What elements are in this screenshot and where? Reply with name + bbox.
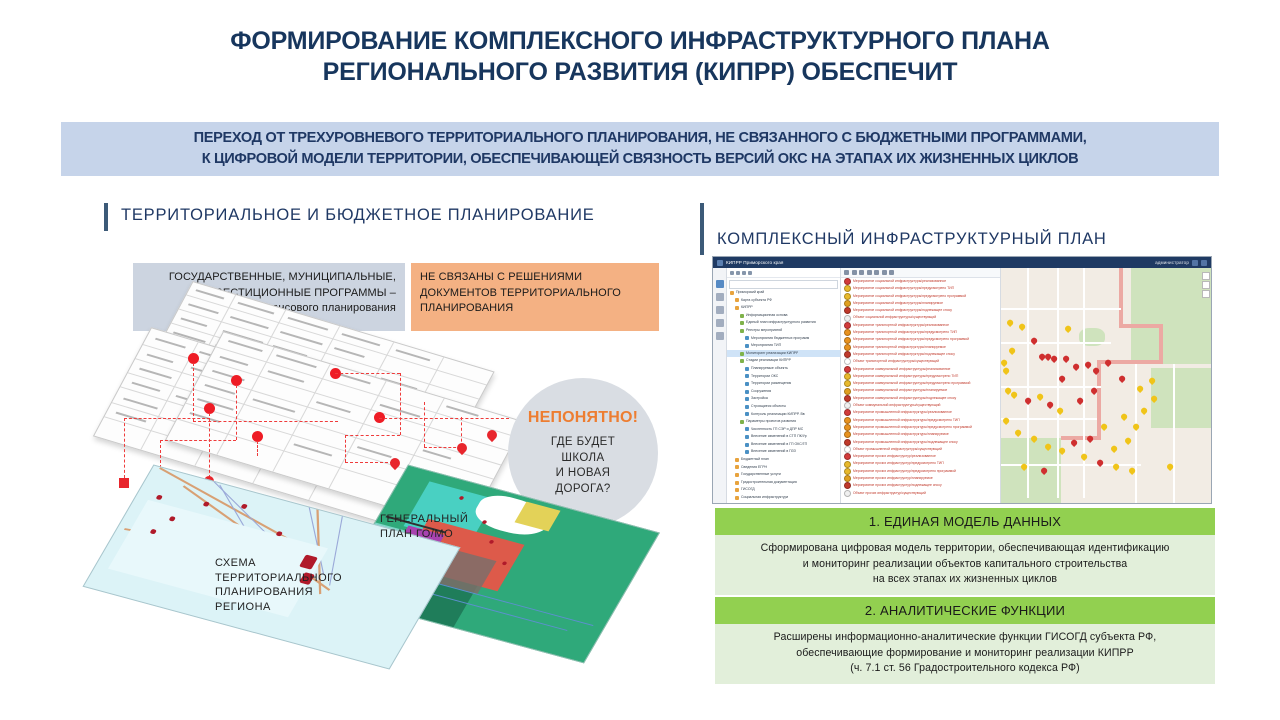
layer-icon: [745, 443, 749, 447]
connector-line: [236, 385, 237, 440]
tree-node[interactable]: Приморский край: [727, 289, 840, 297]
legend-row-label: Мероприятие прочих инфраструктур/предусм…: [853, 460, 944, 467]
user-menu-icon[interactable]: [1201, 260, 1207, 266]
layer-icon: [740, 314, 744, 318]
app-logo-icon: [717, 260, 723, 266]
legend-symbol-icon: [844, 446, 851, 453]
legend-row-label: Мероприятие транспортной инфраструктуры/…: [853, 336, 969, 343]
tree-node-label: Социальная инфраструктура: [741, 494, 788, 502]
map-highway: [1119, 268, 1123, 328]
connector-line: [193, 421, 338, 422]
folder-icon: [735, 458, 739, 462]
zoom-to-icon[interactable]: [844, 270, 849, 275]
map-zoom-controls[interactable]: [1202, 272, 1208, 299]
print-list-icon[interactable]: [889, 270, 894, 275]
tree-node-label: Территории размещения: [751, 380, 791, 388]
layer-icon: [745, 435, 749, 439]
tree-node[interactable]: Социальная инфраструктура: [727, 494, 840, 502]
legend-symbol-icon: [844, 366, 851, 373]
tree-node[interactable]: КИПРР: [727, 304, 840, 312]
legend-row-label: Мероприятие прочих инфраструктур/подлежа…: [853, 482, 942, 489]
app-title-right: администратор: [1155, 260, 1207, 266]
gray-box-line-1: ГОСУДАРСТВЕННЫЕ, МУНИЦИПАЛЬНЫЕ,: [142, 270, 396, 286]
tree-node-label: Контроль реализации КИПРР. Вв: [751, 411, 805, 419]
zoom-in-button[interactable]: [1202, 272, 1210, 280]
legend-row-label: Объект социальной инфраструктуры/существ…: [853, 314, 936, 321]
tree-node[interactable]: Застройка: [727, 395, 840, 403]
tree-node-label: Территории ОКС: [751, 373, 778, 381]
connector-line: [345, 435, 400, 436]
legend-symbol-icon: [844, 439, 851, 446]
legend-row-label: Мероприятие транспортной инфраструктуры/…: [853, 344, 946, 351]
pan-icon[interactable]: [859, 270, 864, 275]
tree-node-label: Параметры проектов развития: [746, 418, 796, 426]
legend-symbol-icon: [844, 461, 851, 468]
endpoint-marker: [119, 478, 129, 488]
layer-icon: [745, 374, 749, 378]
expand-all-icon[interactable]: [730, 271, 734, 275]
legend-symbol-icon: [844, 293, 851, 300]
tree-node[interactable]: Карта субъекта РФ: [727, 297, 840, 305]
block-2-line-3: (ч. 7.1 ст. 56 Градостроительного кодекс…: [723, 661, 1207, 677]
map-street: [1057, 268, 1059, 498]
block-1-line-1: Сформирована цифровая модель территории,…: [723, 541, 1207, 557]
connector-line: [345, 435, 346, 462]
connector-line: [345, 462, 393, 463]
tree-node[interactable]: Планируемые объекты: [727, 365, 840, 373]
connector-line: [379, 418, 509, 419]
legend-row[interactable]: Объект транспортной инфраструктуры/сущес…: [841, 358, 1000, 365]
map-street: [1027, 268, 1029, 498]
legend-row[interactable]: Мероприятие транспортной инфраструктуры/…: [841, 336, 1000, 343]
measure-icon[interactable]: [716, 319, 724, 327]
legend-symbol-icon: [844, 402, 851, 409]
layer-icon: [745, 382, 749, 386]
tree-node[interactable]: Информационная основа: [727, 312, 840, 320]
legend-row[interactable]: Мероприятие промышленной инфраструктуры/…: [841, 409, 1000, 416]
legend-row[interactable]: Мероприятие прочих инфраструктур/предусм…: [841, 460, 1000, 467]
schema-label-line-2: ТЕРРИТОРИАЛЬНОГО: [215, 571, 342, 586]
legend-row-label: Мероприятие транспортной инфраструктуры/…: [853, 329, 957, 336]
legend-symbol-icon: [844, 468, 851, 475]
connector-line: [335, 373, 400, 374]
tree-node[interactable]: Контроль реализации КИПРР. Вв: [727, 411, 840, 419]
callout-q-line-2: ШКОЛА: [551, 451, 615, 467]
legend-symbol-icon: [844, 395, 851, 402]
legend-row[interactable]: Мероприятие социальной инфраструктуры/пл…: [841, 300, 1000, 307]
layer-icon: [745, 405, 749, 409]
export-icon[interactable]: [874, 270, 879, 275]
layer-icon: [745, 390, 749, 394]
connector-line: [193, 363, 194, 421]
map-green-area: [1131, 268, 1211, 364]
help-icon[interactable]: [1192, 260, 1198, 266]
tree-node[interactable]: Внесение изменений в ГП ОКС/ГП: [727, 441, 840, 449]
legend-symbol-icon: [844, 431, 851, 438]
tree-node-label: КИПРР: [741, 304, 753, 312]
app-window-title: КИПРР Приморского края: [726, 260, 784, 265]
app-title-left: КИПРР Приморского края: [717, 260, 784, 266]
map-highway: [1159, 324, 1163, 360]
layer-icon: [740, 329, 744, 333]
layer-icon: [745, 450, 749, 454]
connector-line: [160, 440, 236, 441]
legend-row[interactable]: Мероприятие прочих инфраструктур/подлежа…: [841, 482, 1000, 489]
tree-node[interactable]: Стадии реализации КИПРР: [727, 357, 840, 365]
banner-line-1: ПЕРЕХОД ОТ ТРЕХУРОВНЕВОГО ТЕРРИТОРИАЛЬНО…: [65, 128, 1215, 149]
block-2-body: Расширены информационно-аналитические фу…: [715, 624, 1215, 684]
tree-node-label: Внесение изменений в ПЗЗ: [751, 448, 796, 456]
legend-row[interactable]: Мероприятие транспортной инфраструктуры/…: [841, 351, 1000, 358]
tree-node[interactable]: Параметры проектов развития: [727, 418, 840, 426]
orange-box-line-1: НЕ СВЯЗАНЫ С РЕШЕНИЯМИ: [420, 270, 650, 286]
legend-row-label: Мероприятие коммунальной инфраструктуры/…: [853, 373, 958, 380]
search-icon[interactable]: [716, 306, 724, 314]
tree-node-label: Сведения ЕГРН: [741, 464, 767, 472]
legend-symbol-icon: [844, 373, 851, 380]
legend-row-label: Мероприятие коммунальной инфраструктуры/…: [853, 366, 950, 373]
connector-line: [424, 402, 425, 447]
result-block-analytics: 2. АНАЛИТИЧЕСКИЕ ФУНКЦИИ Расширены инфор…: [715, 597, 1215, 684]
connector-line: [257, 441, 258, 456]
callout-headline: НЕПОНЯТНО!: [528, 409, 638, 427]
tree-node[interactable]: Строящиеся объекты: [727, 403, 840, 411]
tree-node[interactable]: Государственные услуги: [727, 471, 840, 479]
legend-row-label: Мероприятие промышленной инфраструктуры/…: [853, 417, 960, 424]
tree-node-label: Внесение изменений в ГП ОКС/ГП: [751, 441, 807, 449]
legend-symbol-icon: [844, 300, 851, 307]
title-line-1: ФОРМИРОВАНИЕ КОМПЛЕКСНОГО ИНФРАСТРУКТУРН…: [230, 27, 1050, 55]
tree-node[interactable]: Транспортная инфраструктура: [727, 502, 840, 504]
tree-node-label: Строящиеся объекты: [751, 403, 786, 411]
legend-row[interactable]: Мероприятие прочих инфраструктур/планиру…: [841, 475, 1000, 482]
tree-node-label: Бюджетный план: [741, 456, 769, 464]
legend-row[interactable]: Мероприятие социальной инфраструктуры/пр…: [841, 293, 1000, 300]
folder-icon: [735, 496, 739, 500]
tree-node[interactable]: Внесение изменений в ПЗЗ: [727, 448, 840, 456]
territorial-scheme-label: СХЕМА ТЕРРИТОРИАЛЬНОГО ПЛАНИРОВАНИЯ РЕГИ…: [215, 556, 342, 614]
legend-row[interactable]: Мероприятие транспортной инфраструктуры/…: [841, 322, 1000, 329]
left-header-text: ТЕРРИТОРИАЛЬНОЕ И БЮДЖЕТНОЕ ПЛАНИРОВАНИЕ: [121, 203, 595, 231]
refresh-icon[interactable]: [742, 271, 746, 275]
legend-symbol-icon: [844, 315, 851, 322]
legend-row-label: Мероприятие коммунальной инфраструктуры/…: [853, 387, 947, 394]
legend-row[interactable]: Мероприятие прочих инфраструктур/предусм…: [841, 468, 1000, 475]
tree-node[interactable]: Территории размещения: [727, 380, 840, 388]
legend-symbol-icon: [844, 388, 851, 395]
layers-icon[interactable]: [716, 280, 724, 288]
legend-symbol-icon: [844, 344, 851, 351]
legend-row[interactable]: Объект коммунальной инфраструктуры/сущес…: [841, 402, 1000, 409]
legend-row[interactable]: Мероприятие промышленной инфраструктуры/…: [841, 431, 1000, 438]
legend-row[interactable]: Мероприятие коммунальной инфраструктуры/…: [841, 387, 1000, 394]
legend-row-label: Мероприятие социальной инфраструктуры/ре…: [853, 278, 946, 285]
map-green-area: [1001, 438, 1061, 504]
legend-row[interactable]: Мероприятие промышленной инфраструктуры/…: [841, 424, 1000, 431]
tree-node-label: Приморский край: [736, 289, 764, 297]
app-layer-tree[interactable]: Приморский крайКарта субъекта РФКИПРРИнф…: [727, 268, 841, 504]
identify-icon[interactable]: [867, 270, 872, 275]
legend-row-label: Мероприятие транспортной инфраструктуры/…: [853, 322, 949, 329]
layer-icon: [745, 412, 749, 416]
schema-label-line-3: ПЛАНИРОВАНИЯ: [215, 585, 342, 600]
legend-row[interactable]: Мероприятие коммунальной инфраструктуры/…: [841, 380, 1000, 387]
layer-icon: [740, 352, 744, 356]
legend-symbol-icon: [844, 482, 851, 489]
schema-label-line-4: РЕГИОНА: [215, 600, 342, 615]
legend-row[interactable]: Мероприятие социальной инфраструктуры/пр…: [841, 285, 1000, 292]
folder-icon: [735, 503, 739, 504]
block-2-line-1: Расширены информационно-аналитические фу…: [723, 630, 1207, 646]
layer-icon: [740, 321, 744, 325]
app-left-rail[interactable]: [713, 268, 727, 504]
schema-label-line-1: СХЕМА: [215, 556, 342, 571]
tree-node-label: Мероприятия бюджетных программ: [751, 335, 809, 343]
tree-node[interactable]: Сведения ЕГРН: [727, 464, 840, 472]
legend-row-label: Мероприятие промышленной инфраструктуры/…: [853, 409, 952, 416]
tree-node-label: Сооружения: [751, 388, 771, 396]
legend-symbol-icon: [844, 380, 851, 387]
block-1-body: Сформирована цифровая модель территории,…: [715, 535, 1215, 595]
general-plan-label: ГЕНЕРАЛЬНЫЙ ПЛАН ГО/МО: [380, 512, 468, 541]
tree-node-label: Мониторинг реализации КИПРР: [746, 350, 798, 358]
block-1-heading: 1. ЕДИНАЯ МОДЕЛЬ ДАННЫХ: [715, 508, 1215, 535]
layer-icon: [740, 359, 744, 363]
tree-node[interactable]: Территории ОКС: [727, 373, 840, 381]
legend-row-label: Объект прочих инфраструктур/существующий: [853, 490, 926, 497]
banner-line-2: К ЦИФРОВОЙ МОДЕЛИ ТЕРРИТОРИИ, ОБЕСПЕЧИВА…: [65, 149, 1215, 170]
legend-symbol-icon: [844, 285, 851, 292]
tree-node[interactable]: Численность ГП СЭР и ДПР МО: [727, 426, 840, 434]
app-map-canvas[interactable]: [1001, 268, 1211, 504]
legend-row-label: Объект промышленной инфраструктуры/сущес…: [853, 446, 942, 453]
app-body: Приморский крайКарта субъекта РФКИПРРИнф…: [713, 268, 1211, 504]
legend-symbol-icon: [844, 409, 851, 416]
legend-row[interactable]: Мероприятие коммунальной инфраструктуры/…: [841, 366, 1000, 373]
folder-icon: [735, 465, 739, 469]
legend-row-label: Мероприятие промышленной инфраструктуры/…: [853, 424, 972, 431]
layer-icon: [745, 344, 749, 348]
tree-node-label: Государственные услуги: [741, 471, 781, 479]
map-highway: [1119, 324, 1163, 328]
subtitle-banner-text: ПЕРЕХОД ОТ ТРЕХУРОВНЕВОГО ТЕРРИТОРИАЛЬНО…: [65, 128, 1215, 170]
legend-symbol-icon: [844, 337, 851, 344]
genplan-label-line-1: ГЕНЕРАЛЬНЫЙ: [380, 512, 468, 527]
map-green-area: [1151, 368, 1211, 428]
planning-maps-illustration: СХЕМА ТЕРРИТОРИАЛЬНОГО ПЛАНИРОВАНИЯ РЕГИ…: [118, 488, 698, 673]
tree-node-label: ГИСОГД: [741, 486, 755, 494]
legend-symbol-icon: [844, 351, 851, 358]
tree-node[interactable]: ГИСОГД: [727, 486, 840, 494]
legend-row-label: Мероприятие коммунальной инфраструктуры/…: [853, 380, 970, 387]
tree-search-input[interactable]: [729, 280, 838, 289]
legend-row[interactable]: Мероприятие транспортной инфраструктуры/…: [841, 344, 1000, 351]
callout-q-line-1: ГДЕ БУДЕТ: [551, 435, 615, 451]
layer-icon: [745, 427, 749, 431]
genplan-label-line-2: ПЛАН ГО/МО: [380, 527, 468, 542]
tree-node[interactable]: Единый план инфраструктурного развития: [727, 319, 840, 327]
connector-line: [424, 447, 461, 448]
tree-node-label: Информационная основа: [746, 312, 788, 320]
app-legend-list[interactable]: Мероприятие социальной инфраструктуры/ре…: [841, 268, 1001, 504]
orange-box-line-3: ПЛАНИРОВАНИЯ: [420, 301, 650, 317]
legend-row[interactable]: Мероприятие транспортной инфраструктуры/…: [841, 329, 1000, 336]
callout-q-line-3: И НОВАЯ: [551, 466, 615, 482]
tree-node[interactable]: Градостроительная документация: [727, 479, 840, 487]
zoom-out-button[interactable]: [1202, 281, 1210, 289]
layer-icon: [745, 397, 749, 401]
legend-row-label: Мероприятие промышленной инфраструктуры/…: [853, 439, 958, 446]
tree-node-label: Застройка: [751, 395, 768, 403]
legend-row-label: Мероприятие социальной инфраструктуры/по…: [853, 307, 952, 314]
legend-row[interactable]: Мероприятие социальной инфраструктуры/по…: [841, 307, 1000, 314]
gray-box-line-2: ИНВЕСТИЦИОННЫЕ ПРОГРАММЫ –: [142, 286, 396, 302]
legend-row-label: Мероприятие социальной инфраструктуры/пл…: [853, 300, 943, 307]
tree-node-label: Реестры мероприятий: [746, 327, 782, 335]
map-street: [1001, 342, 1111, 344]
tree-node-label: Планируемые объекты: [751, 365, 788, 373]
tree-node[interactable]: Внесение изменений в СТП ПК/Ур: [727, 433, 840, 441]
tree-node-label: Стадии реализации КИПРР: [746, 357, 791, 365]
folder-icon: [735, 306, 739, 310]
connector-line: [400, 373, 401, 435]
map-layers-button[interactable]: [1202, 290, 1210, 298]
legend-row-label: Мероприятие прочих инфраструктур/планиру…: [853, 475, 933, 482]
legend-symbol-icon: [844, 475, 851, 482]
list-toolbar[interactable]: [841, 268, 1000, 278]
legend-row-label: Мероприятие коммунальной инфраструктуры/…: [853, 395, 956, 402]
legend-symbol-icon: [844, 424, 851, 431]
map-street: [1001, 386, 1101, 388]
right-header-text: КОМПЛЕКСНЫЙ ИНФРАСТРУКТУРНЫЙ ПЛАН РЕГИОН…: [717, 203, 1193, 255]
print-icon[interactable]: [716, 293, 724, 301]
tree-node-label: Транспортная инфраструктура: [741, 502, 791, 504]
legend-row-label: Мероприятие прочих инфраструктур/предусм…: [853, 468, 956, 475]
legend-row[interactable]: Мероприятие социальной инфраструктуры/ре…: [841, 278, 1000, 285]
gis-application-screenshot[interactable]: КИПРР Приморского края администратор: [712, 256, 1212, 504]
tree-node-label: Мероприятия ТИП: [751, 342, 781, 350]
block-1-line-2: и мониторинг реализации объектов капитал…: [723, 557, 1207, 573]
folder-icon: [735, 473, 739, 477]
connector-line: [124, 418, 210, 419]
tree-node-list[interactable]: Приморский крайКарта субъекта РФКИПРРИнф…: [727, 289, 840, 504]
select-icon[interactable]: [852, 270, 857, 275]
settings-icon[interactable]: [882, 270, 887, 275]
legend-symbol-icon: [844, 490, 851, 497]
tree-node[interactable]: Реестры мероприятий: [727, 327, 840, 335]
tree-node-label: Карта субъекта РФ: [741, 297, 772, 305]
legend-row[interactable]: Объект промышленной инфраструктуры/сущес…: [841, 446, 1000, 453]
connector-line: [209, 413, 210, 478]
subtitle-banner: ПЕРЕХОД ОТ ТРЕХУРОВНЕВОГО ТЕРРИТОРИАЛЬНО…: [61, 122, 1219, 176]
legend-row-label: Мероприятие промышленной инфраструктуры/…: [853, 431, 949, 438]
legend-row-list[interactable]: Мероприятие социальной инфраструктуры/ре…: [841, 278, 1000, 497]
table-icon[interactable]: [716, 332, 724, 340]
filter-icon[interactable]: [748, 271, 752, 275]
folder-icon: [735, 298, 739, 302]
tree-toolbar[interactable]: [727, 268, 840, 278]
title-line-2: РЕГИОНАЛЬНОГО РАЗВИТИЯ (КИПРР) ОБЕСПЕЧИТ: [0, 57, 1280, 88]
map-street: [1001, 308, 1121, 310]
folder-icon: [730, 291, 734, 295]
legend-row-label: Объект транспортной инфраструктуры/сущес…: [853, 358, 939, 365]
map-street: [1173, 364, 1175, 504]
legend-row[interactable]: Мероприятие промышленной инфраструктуры/…: [841, 417, 1000, 424]
tree-node-label: Численность ГП СЭР и ДПР МО: [751, 426, 803, 434]
legend-row-label: Мероприятие социальной инфраструктуры/пр…: [853, 293, 966, 300]
legend-row[interactable]: Объект прочих инфраструктур/существующий: [841, 490, 1000, 497]
map-highway: [1061, 436, 1101, 440]
not-linked-info-box: НЕ СВЯЗАНЫ С РЕШЕНИЯМИ ДОКУМЕНТОВ ТЕРРИТ…: [411, 263, 659, 331]
app-user-label: администратор: [1155, 260, 1189, 265]
legend-symbol-icon: [844, 417, 851, 424]
map-street: [1135, 364, 1137, 504]
tree-node[interactable]: Бюджетный план: [727, 456, 840, 464]
map-street: [1083, 268, 1085, 498]
legend-row[interactable]: Объект социальной инфраструктуры/существ…: [841, 314, 1000, 321]
app-title-bar: КИПРР Приморского края администратор: [713, 257, 1211, 268]
orange-box-line-2: ДОКУМЕНТОВ ТЕРРИТОРИАЛЬНОГО: [420, 286, 650, 302]
page-title: ФОРМИРОВАНИЕ КОМПЛЕКСНОГО ИНФРАСТРУКТУРН…: [0, 26, 1280, 88]
left-header-accent-bar: [104, 203, 108, 231]
legend-row[interactable]: Мероприятие коммунальной инфраструктуры/…: [841, 373, 1000, 380]
tree-node-label: Градостроительная документация: [741, 479, 797, 487]
legend-row-label: Объект коммунальной инфраструктуры/сущес…: [853, 402, 940, 409]
left-column-header: ТЕРРИТОРИАЛЬНОЕ И БЮДЖЕТНОЕ ПЛАНИРОВАНИЕ: [104, 203, 595, 231]
tree-node[interactable]: Сооружения: [727, 388, 840, 396]
legend-symbol-icon: [844, 358, 851, 365]
legend-symbol-icon: [844, 307, 851, 314]
layer-icon: [745, 367, 749, 371]
right-column-header: КОМПЛЕКСНЫЙ ИНФРАСТРУКТУРНЫЙ ПЛАН РЕГИОН…: [700, 203, 1193, 255]
tree-node[interactable]: Мониторинг реализации КИПРР: [727, 350, 840, 358]
tree-node[interactable]: Мероприятия ТИП: [727, 342, 840, 350]
folder-icon: [735, 488, 739, 492]
layer-icon: [745, 336, 749, 340]
tree-node-label: Единый план инфраструктурного развития: [746, 319, 816, 327]
collapse-all-icon[interactable]: [736, 271, 740, 275]
legend-row[interactable]: Мероприятие коммунальной инфраструктуры/…: [841, 395, 1000, 402]
block-1-line-3: на всех этапах их жизненных циклов: [723, 572, 1207, 588]
legend-row-label: Мероприятие социальной инфраструктуры/пр…: [853, 285, 954, 292]
slide-root: ФОРМИРОВАНИЕ КОМПЛЕКСНОГО ИНФРАСТРУКТУРН…: [0, 0, 1280, 720]
legend-symbol-icon: [844, 322, 851, 329]
legend-symbol-icon: [844, 278, 851, 285]
connector-line: [124, 418, 125, 478]
block-2-line-2: обеспечивающие формирование и мониторинг…: [723, 646, 1207, 662]
legend-symbol-icon: [844, 453, 851, 460]
legend-row-label: Мероприятие транспортной инфраструктуры/…: [853, 351, 955, 358]
legend-row-label: Мероприятие прочих инфраструктур/реализо…: [853, 453, 936, 460]
tree-node-label: Внесение изменений в СТП ПК/Ур: [751, 433, 807, 441]
legend-row[interactable]: Мероприятие прочих инфраструктур/реализо…: [841, 453, 1000, 460]
right-header-accent-bar: [700, 203, 704, 255]
tree-node[interactable]: Мероприятия бюджетных программ: [727, 335, 840, 343]
folder-icon: [735, 481, 739, 485]
layer-icon: [740, 420, 744, 424]
result-block-data-model: 1. ЕДИНАЯ МОДЕЛЬ ДАННЫХ Сформирована циф…: [715, 508, 1215, 595]
legend-row[interactable]: Мероприятие промышленной инфраструктуры/…: [841, 439, 1000, 446]
right-header-line-1: КОМПЛЕКСНЫЙ ИНФРАСТРУКТУРНЫЙ ПЛАН: [717, 227, 1193, 251]
legend-symbol-icon: [844, 329, 851, 336]
block-2-heading: 2. АНАЛИТИЧЕСКИЕ ФУНКЦИИ: [715, 597, 1215, 624]
